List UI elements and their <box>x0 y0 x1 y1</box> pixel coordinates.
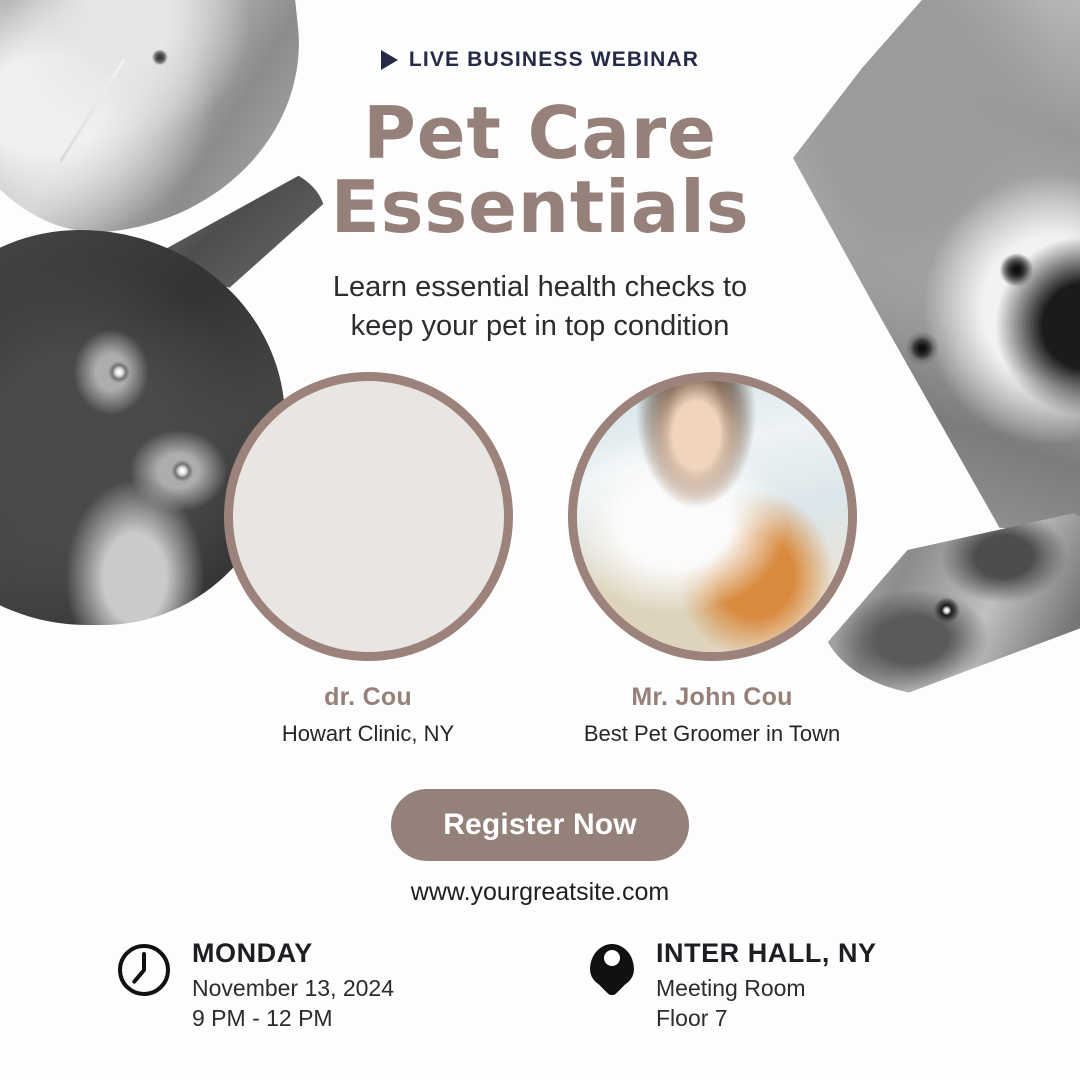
avatar <box>568 372 857 661</box>
title-line-1: Pet Care <box>0 96 1080 170</box>
speaker-name: dr. Cou <box>220 683 516 712</box>
speaker-photo-1 <box>233 381 504 652</box>
speaker-card-1: dr. Cou Howart Clinic, NY <box>220 372 516 747</box>
date-text: MONDAY November 13, 2024 9 PM - 12 PM <box>192 938 394 1033</box>
poster-canvas: LIVE BUSINESS WEBINAR Pet Care Essential… <box>0 0 1080 1080</box>
location-info-block: INTER HALL, NY Meeting Room Floor 7 <box>590 938 1010 1033</box>
date-line-1: November 13, 2024 <box>192 974 394 1003</box>
date-line-2: 9 PM - 12 PM <box>192 1004 394 1033</box>
page-title: Pet Care Essentials <box>0 96 1080 244</box>
location-text: INTER HALL, NY Meeting Room Floor 7 <box>656 938 877 1033</box>
speaker-name: Mr. John Cou <box>564 683 860 712</box>
title-line-2: Essentials <box>0 170 1080 244</box>
speaker-role: Howart Clinic, NY <box>220 721 516 747</box>
register-now-button[interactable]: Register Now <box>391 789 689 861</box>
speaker-role: Best Pet Groomer in Town <box>564 721 860 747</box>
speaker-photo-2 <box>577 381 848 652</box>
kicker-label: LIVE BUSINESS WEBINAR <box>409 48 699 72</box>
location-line-1: Meeting Room <box>656 974 877 1003</box>
map-pin-icon <box>590 944 634 988</box>
play-triangle-icon <box>381 50 398 70</box>
location-heading: INTER HALL, NY <box>656 938 877 969</box>
speaker-card-2: Mr. John Cou Best Pet Groomer in Town <box>564 372 860 747</box>
website-url[interactable]: www.yourgreatsite.com <box>0 878 1080 907</box>
location-line-2: Floor 7 <box>656 1004 877 1033</box>
footer: MONDAY November 13, 2024 9 PM - 12 PM IN… <box>118 938 1010 1033</box>
clock-icon <box>118 944 170 996</box>
avatar <box>224 372 513 661</box>
speaker-list: dr. Cou Howart Clinic, NY Mr. John Cou B… <box>0 372 1080 747</box>
subtitle-line-2: keep your pet in top condition <box>0 307 1080 346</box>
subtitle: Learn essential health checks to keep yo… <box>0 268 1080 345</box>
subtitle-line-1: Learn essential health checks to <box>0 268 1080 307</box>
date-heading: MONDAY <box>192 938 394 969</box>
cta-container: Register Now <box>0 789 1080 861</box>
date-info-block: MONDAY November 13, 2024 9 PM - 12 PM <box>118 938 394 1033</box>
kicker-banner: LIVE BUSINESS WEBINAR <box>0 48 1080 72</box>
